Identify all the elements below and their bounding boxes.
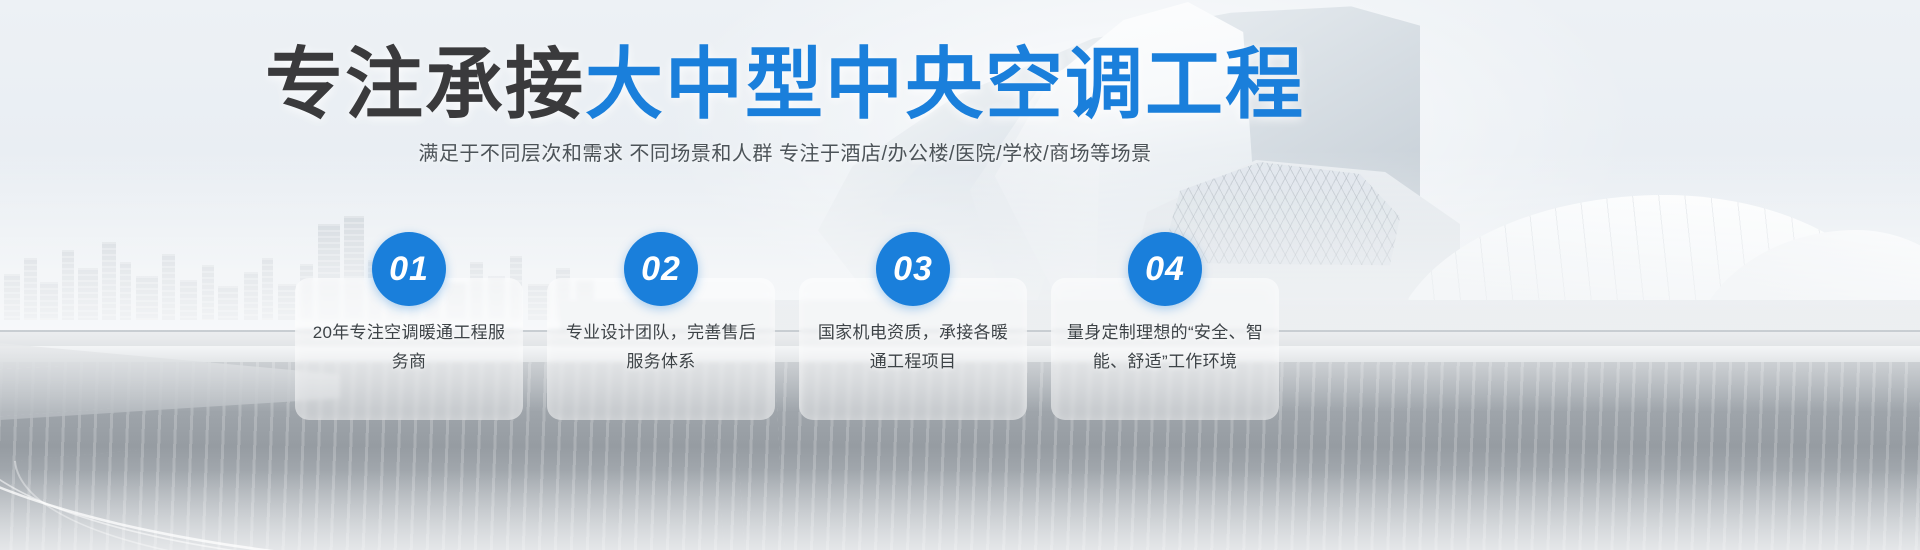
- card-description: 量身定制理想的“安全、智能、舒适”工作环境: [1065, 318, 1265, 376]
- card-number-badge: 01: [372, 232, 446, 306]
- card-description: 国家机电资质，承接各暖通工程项目: [813, 318, 1013, 376]
- feature-card[interactable]: 01 20年专注空调暖通工程服务商: [295, 278, 523, 420]
- hero-banner: 专注承接大中型中央空调工程 满足于不同层次和需求 不同场景和人群 专注于酒店/办…: [0, 0, 1920, 550]
- feature-card[interactable]: 04 量身定制理想的“安全、智能、舒适”工作环境: [1051, 278, 1279, 420]
- headline-text-dark: 专注承接: [265, 40, 585, 128]
- card-number-badge: 04: [1128, 232, 1202, 306]
- card-description: 专业设计团队，完善售后服务体系: [561, 318, 761, 376]
- feature-card[interactable]: 03 国家机电资质，承接各暖通工程项目: [799, 278, 1027, 420]
- banner-subtitle: 满足于不同层次和需求 不同场景和人群 专注于酒店/办公楼/医院/学校/商场等场景: [0, 140, 1570, 168]
- headline-text-accent: 大中型中央空调工程: [585, 40, 1305, 128]
- feature-card-list: 01 20年专注空调暖通工程服务商 02 专业设计团队，完善售后服务体系 03 …: [295, 278, 1279, 420]
- card-description: 20年专注空调暖通工程服务商: [309, 318, 509, 376]
- banner-headline: 专注承接大中型中央空调工程: [0, 42, 1570, 126]
- feature-card[interactable]: 02 专业设计团队，完善售后服务体系: [547, 278, 775, 420]
- card-number-badge: 02: [624, 232, 698, 306]
- card-number-badge: 03: [876, 232, 950, 306]
- road-vignette: [0, 470, 1920, 550]
